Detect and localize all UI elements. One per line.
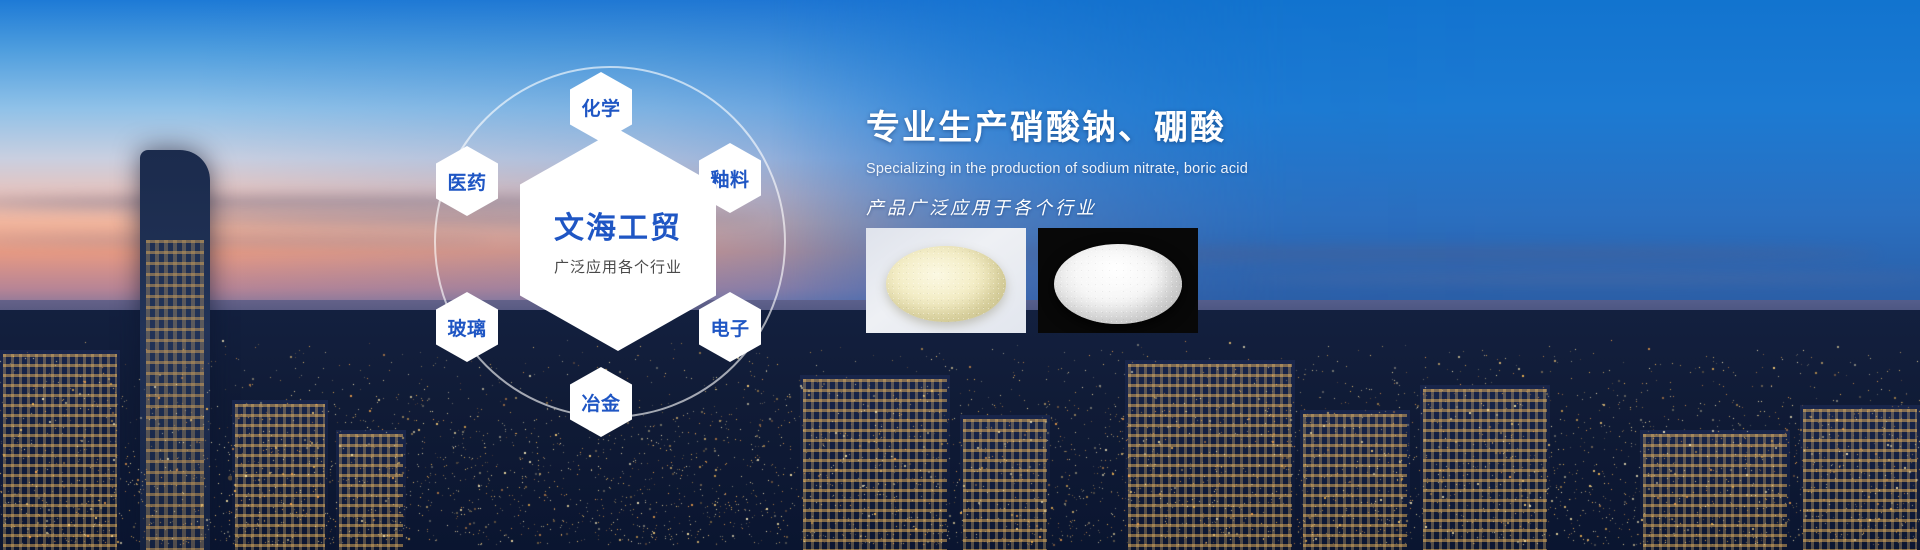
powder-grain-texture (886, 246, 1006, 322)
product-photo-boric-acid[interactable] (1038, 228, 1198, 333)
hex-node-label: 玻璃 (447, 314, 486, 341)
city-lights (0, 300, 1920, 550)
industry-hexagon-diagram: 化学 釉料 医药 玻璃 电子 冶金 文海工贸 广泛应用各个行业 (418, 30, 818, 450)
headline-subtitle-chinese: 产品广泛应用于各个行业 (866, 194, 1386, 220)
powder-pile (886, 246, 1006, 322)
product-photo-sodium-nitrate[interactable] (866, 228, 1026, 333)
hex-node-label: 电子 (710, 314, 749, 341)
hex-node-label: 釉料 (710, 165, 749, 192)
cloud-band (1240, 272, 1920, 284)
powder-grain-texture (1054, 244, 1182, 324)
company-name: 文海工贸 (554, 203, 682, 247)
hex-node-label: 医药 (447, 168, 486, 195)
hex-node-label: 冶金 (581, 389, 620, 416)
hex-node-label: 化学 (581, 94, 620, 121)
product-photo-strip (866, 228, 1198, 333)
promotional-banner: 化学 釉料 医药 玻璃 电子 冶金 文海工贸 广泛应用各个行业 专业生产硝酸钠、… (0, 0, 1920, 550)
headline-subtitle-english: Specializing in the production of sodium… (866, 161, 1386, 177)
headline-title: 专业生产硝酸钠、硼酸 (866, 100, 1386, 149)
company-tagline: 广泛应用各个行业 (554, 256, 682, 277)
powder-pile (1054, 244, 1182, 324)
headline-block: 专业生产硝酸钠、硼酸 Specializing in the productio… (866, 100, 1386, 220)
